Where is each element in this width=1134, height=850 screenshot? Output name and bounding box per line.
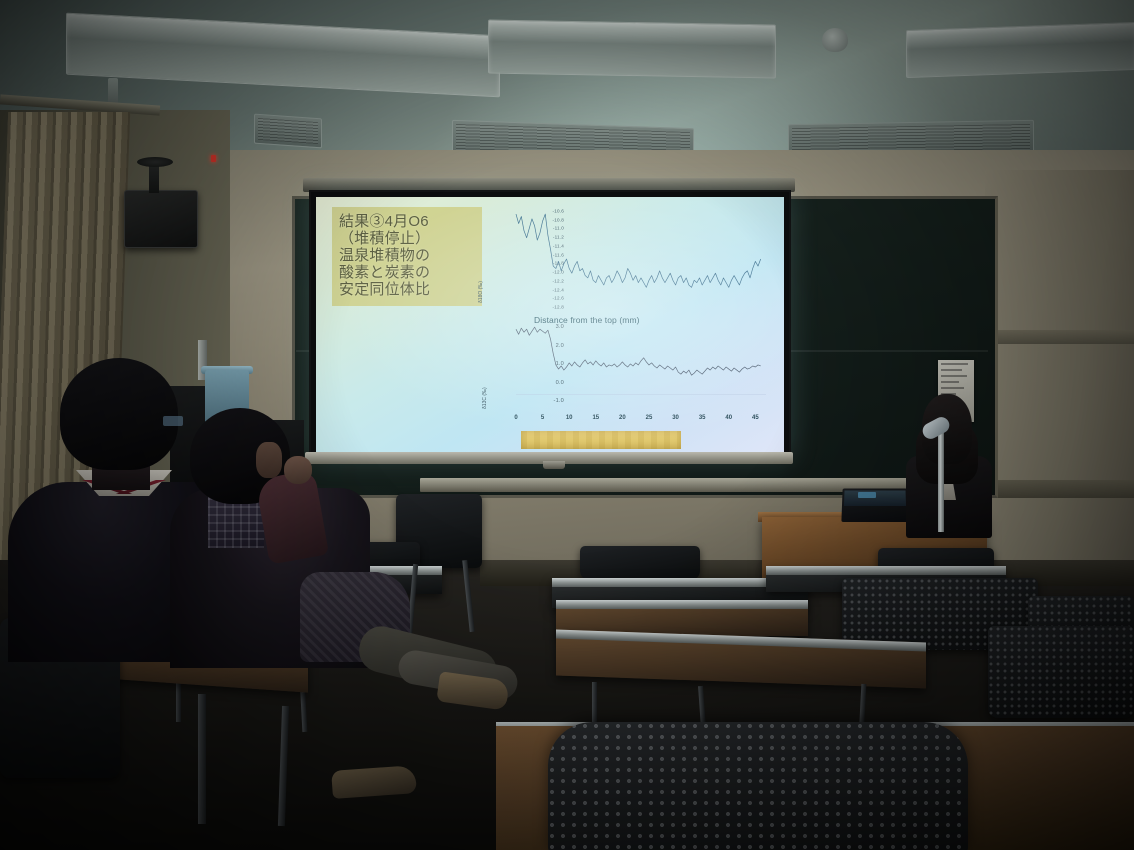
x-tick: 0 [514, 415, 517, 421]
slide-title-line-4: 酸素と炭素の [339, 264, 475, 281]
chair[interactable] [580, 546, 700, 580]
wall-speaker-icon [124, 190, 198, 248]
ceiling-air-vent [254, 114, 322, 149]
microphone-stand [938, 424, 944, 532]
delta18O-series [516, 214, 761, 287]
chart-delta13C: 3.02.01.00.0-1.0 δ13C (‰) 05101520253035… [476, 321, 776, 431]
ceiling-light-fixture [906, 22, 1134, 78]
x-tick: 15 [592, 415, 599, 421]
ceiling-light-fixture [488, 19, 776, 78]
right-wall [985, 170, 1134, 600]
slide-title-box: 結果③4月O6 （堆積停止） 温泉堆積物の 酸素と炭素の 安定同位体比 [332, 207, 482, 306]
y-axis-label-bottom: δ13C (‰) [482, 387, 488, 409]
slide-title-line-2: （堆積停止） [339, 230, 475, 247]
screen-pull-handle[interactable] [543, 461, 565, 469]
smoke-detector-icon [822, 28, 848, 52]
x-tick: 5 [541, 415, 544, 421]
laptop-screen-glow [858, 492, 876, 498]
chair[interactable] [988, 626, 1134, 718]
x-tick: 35 [699, 415, 706, 421]
plot-area-top [516, 207, 766, 311]
core-sample-photo-strip [521, 431, 681, 449]
delta13C-series [516, 327, 761, 375]
wall-trim-band [985, 330, 1134, 344]
x-tick: 45 [752, 415, 759, 421]
y-axis-label-top: δ18O (‰) [478, 281, 484, 303]
x-tick: 20 [619, 415, 626, 421]
projected-slide: 結果③4月O6 （堆積停止） 温泉堆積物の 酸素と炭素の 安定同位体比 -10.… [316, 197, 784, 452]
shoe [331, 765, 417, 799]
x-tick: 25 [646, 415, 653, 421]
slide-title-line-1: 結果③4月O6 [339, 213, 475, 230]
lecture-room-photo: 結果③4月O6 （堆積停止） 温泉堆積物の 酸素と炭素の 安定同位体比 -10.… [0, 0, 1134, 850]
presenter-at-podium [900, 394, 996, 534]
slide-title-line-3: 温泉堆積物の [339, 247, 475, 264]
chart-area: -10.6-10.8-11.0-11.2-11.4-11.6-11.8-12.0… [476, 203, 776, 451]
slide-title-line-5: 安定同位体比 [339, 281, 475, 298]
chart-delta18O: -10.6-10.8-11.0-11.2-11.4-11.6-11.8-12.0… [476, 207, 776, 311]
x-tick: 30 [672, 415, 679, 421]
x-tick: 10 [566, 415, 573, 421]
status-led-indicator [211, 155, 216, 162]
wall-base-band [985, 480, 1134, 498]
projection-screen: 結果③4月O6 （堆積停止） 温泉堆積物の 酸素と炭素の 安定同位体比 -10.… [309, 190, 791, 459]
x-tick: 40 [725, 415, 732, 421]
foreground-chair[interactable] [548, 722, 968, 850]
